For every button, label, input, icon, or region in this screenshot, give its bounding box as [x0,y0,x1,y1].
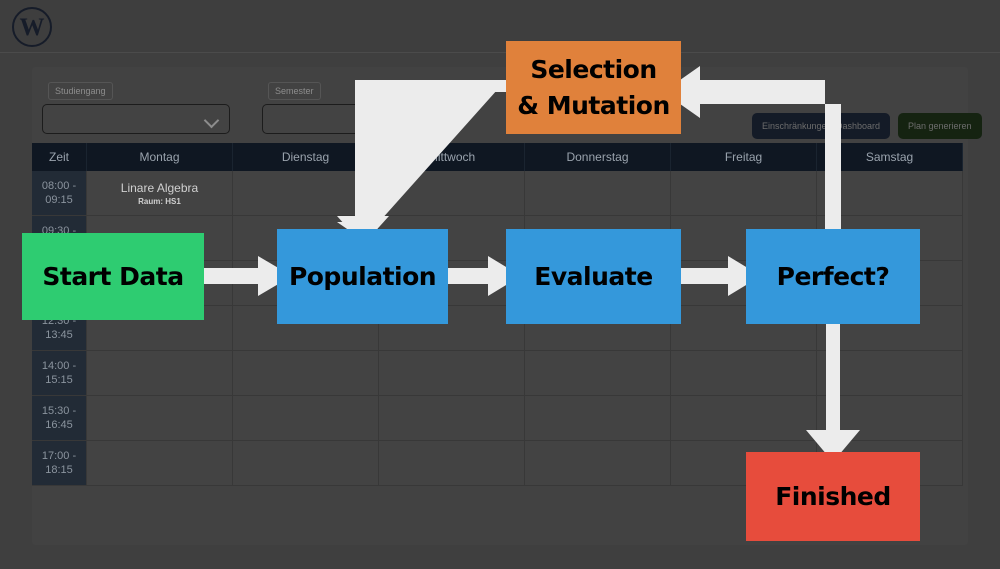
timetable-cell[interactable] [379,351,525,396]
timetable-body: 08:00 -09:15Linare AlgebraRaum: HS109:30… [32,171,968,486]
timetable-cell[interactable] [233,216,379,261]
timetable-cell[interactable] [525,261,671,306]
timetable-cell[interactable] [379,261,525,306]
timetable-header-row: Zeit Montag Dienstag Mittwoch Donnerstag… [32,143,968,171]
timetable-cell[interactable] [233,351,379,396]
column-header-montag: Montag [87,143,233,171]
screen: W Studiengang Semester Einschränkungen D… [0,0,1000,569]
timetable-cell[interactable] [379,441,525,486]
timetable-cell[interactable] [525,351,671,396]
timetable-row: 17:00 -18:15 [32,441,968,486]
timetable-row: 09:30 -10:45Linare Algebra [32,216,968,261]
timetable-cell[interactable] [233,171,379,216]
timetable-cell[interactable] [671,216,817,261]
timetable-cell[interactable] [525,306,671,351]
column-header-dienstag: Dienstag [233,143,379,171]
timetable-time-cell: 11:00 -12:15 [32,261,87,306]
timetable-cell[interactable] [817,306,963,351]
column-header-zeit: Zeit [32,143,87,171]
studiengang-label: Studiengang [48,82,113,100]
plan-generieren-button[interactable]: Plan generieren [898,113,982,139]
timetable-cell[interactable] [233,306,379,351]
timetable-time-cell: 12:30 -13:45 [32,306,87,351]
semester-select[interactable] [262,104,450,134]
chevron-down-icon [204,113,220,129]
course-title: Linare Algebra [121,231,198,245]
timetable-cell[interactable] [379,396,525,441]
timetable: Zeit Montag Dienstag Mittwoch Donnerstag… [32,143,968,486]
timetable-cell[interactable] [817,216,963,261]
timetable-cell[interactable] [671,441,817,486]
timetable-cell[interactable] [671,351,817,396]
timetable-time-cell: 14:00 -15:15 [32,351,87,396]
timetable-cell[interactable] [817,261,963,306]
timetable-cell[interactable] [87,351,233,396]
timetable-cell[interactable]: Linare AlgebraRaum: HS1 [87,171,233,216]
timetable-cell[interactable] [379,171,525,216]
dashboard-button[interactable]: Dashboard [826,113,890,139]
timetable-row: 08:00 -09:15Linare AlgebraRaum: HS1 [32,171,968,216]
studiengang-field: Studiengang [42,81,230,134]
timetable-row: 12:30 -13:45 [32,306,968,351]
timetable-cell[interactable] [817,351,963,396]
column-header-mittwoch: Mittwoch [379,143,525,171]
timetable-cell[interactable] [817,396,963,441]
timetable-cell[interactable] [671,306,817,351]
timetable-time-cell: 09:30 -10:45 [32,216,87,261]
timetable-cell[interactable] [525,171,671,216]
timetable-cell[interactable] [817,441,963,486]
timetable-cell[interactable] [525,216,671,261]
course-title: Linare Algebra [121,181,198,195]
column-header-donnerstag: Donnerstag [525,143,671,171]
timetable-cell[interactable] [817,171,963,216]
timetable-cell[interactable] [379,216,525,261]
chevron-down-icon [424,113,440,129]
timetable-cell[interactable]: Linare Algebra [87,216,233,261]
timetable-cell[interactable] [87,306,233,351]
timetable-cell[interactable] [233,396,379,441]
filter-bar: Studiengang Semester Einschränkungen Das… [42,81,958,141]
timetable-cell[interactable] [87,441,233,486]
timetable-time-cell: 17:00 -18:15 [32,441,87,486]
semester-label: Semester [268,82,321,100]
column-header-freitag: Freitag [671,143,817,171]
timetable-cell[interactable] [671,261,817,306]
timetable-cell[interactable] [87,261,233,306]
timetable-cell[interactable] [671,171,817,216]
studiengang-select[interactable] [42,104,230,134]
timetable-cell[interactable] [233,441,379,486]
timetable-cell[interactable] [671,396,817,441]
timetable-row: 11:00 -12:15 [32,261,968,306]
timetable-row: 14:00 -15:15 [32,351,968,396]
timetable-cell[interactable] [525,441,671,486]
course-room: Raum: HS1 [138,197,181,206]
timetable-cell[interactable] [525,396,671,441]
timetable-cell[interactable] [379,306,525,351]
timetable-cell[interactable] [87,396,233,441]
semester-field: Semester [262,81,450,134]
timetable-cell[interactable] [233,261,379,306]
timetable-time-cell: 15:30 -16:45 [32,396,87,441]
app-logo-icon[interactable]: W [12,7,52,47]
timetable-row: 15:30 -16:45 [32,396,968,441]
app-navbar: W [0,0,1000,53]
timetable-panel: Studiengang Semester Einschränkungen Das… [32,67,968,545]
column-header-samstag: Samstag [817,143,963,171]
timetable-time-cell: 08:00 -09:15 [32,171,87,216]
